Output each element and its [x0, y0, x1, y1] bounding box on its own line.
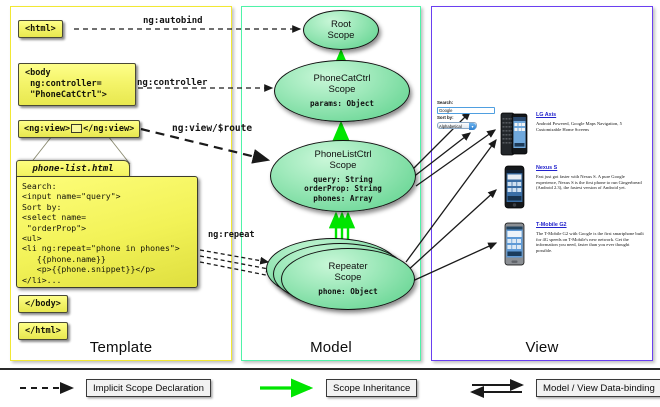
scope-root-title-2: Scope [328, 30, 355, 41]
code-box-ngview: <ng:view></ng:view> [18, 120, 140, 138]
dashed-arrow-icon [18, 378, 80, 398]
partial-line: <ul> [22, 233, 192, 243]
phone-list-item[interactable]: Nexus S Fast just got faster with Nexus … [500, 165, 650, 191]
legend-label-inheritance: Scope Inheritance [326, 379, 417, 397]
partial-line: Sort by: [22, 202, 192, 212]
search-label: Search: [437, 100, 497, 106]
phone-list-item[interactable]: LG Axis Android Powered, Google Maps Nav… [500, 112, 650, 132]
scope-property: phones: Array [304, 194, 382, 203]
legend-item-implicit: Implicit Scope Declaration [18, 378, 211, 398]
phone-thumbnail-icon [500, 222, 528, 266]
partial-line: <li ng:repeat="phone in phones"> [22, 243, 192, 253]
phone-name-link[interactable]: T-Mobile G2 [536, 222, 646, 229]
phone-snippet: Fast just got faster with Nexus S. A pur… [536, 174, 646, 191]
code-box-html-close: </html> [18, 322, 68, 340]
panel-view-label: View [432, 339, 652, 356]
green-arrow-icon [258, 378, 320, 398]
code-box-body-open: <body ng:controller= "PhoneCatCtrl"> [18, 63, 136, 106]
sort-label: Sort by: [437, 115, 497, 121]
partial-line: "orderProp"> [22, 223, 192, 233]
scope-property: query: String [304, 175, 382, 184]
chevron-down-icon: ▾ [469, 123, 476, 130]
sort-select[interactable]: Alphabetical ▾ [437, 122, 477, 129]
connector-label-autobind: ng:autobind [143, 16, 203, 26]
code-box-body-close: </body> [18, 295, 68, 313]
sort-select-value: Alphabetical [439, 124, 462, 129]
partial-line: Search: [22, 181, 192, 191]
view-search-form: Search: Google Sort by: Alphabetical ▾ [437, 100, 497, 129]
legend-item-databinding: Model / View Data-binding [468, 378, 660, 398]
html-close-tag: </html> [25, 326, 61, 336]
phone-list-item[interactable]: T-Mobile G2 The T-Mobile G2 with Google … [500, 222, 650, 253]
legend-label-implicit: Implicit Scope Declaration [86, 379, 211, 397]
scope-phonelistctrl: PhoneListCtrl Scope query: String orderP… [270, 140, 416, 212]
phone-name-link[interactable]: Nexus S [536, 165, 646, 172]
scope-property: params: Object [310, 99, 374, 108]
search-input[interactable]: Google [437, 107, 495, 114]
scope-phonecatctrl-title-2: Scope [313, 84, 370, 95]
partial-line: <input name="query"> [22, 191, 192, 201]
diagram-canvas: Template Model View [0, 0, 660, 405]
double-arrow-icon [468, 378, 530, 398]
scope-repeater-title-1: Repeater [328, 261, 367, 272]
partial-line: </li>... [22, 275, 192, 285]
partial-line: {{phone.name}} [22, 254, 192, 264]
phone-snippet: The T-Mobile G2 with Google is the first… [536, 231, 646, 253]
connector-label-route: ng:view/$route [172, 123, 252, 134]
connector-label-controller: ng:controller [137, 78, 207, 88]
panel-template-label: Template [11, 339, 231, 356]
phone-name-link[interactable]: LG Axis [536, 112, 646, 119]
scope-phonelistctrl-title-1: PhoneListCtrl [314, 149, 371, 160]
panel-model-label: Model [242, 339, 420, 356]
legend: Implicit Scope Declaration Scope Inherit… [0, 368, 660, 407]
scope-root: Root Scope [303, 10, 379, 50]
scope-phonelistctrl-title-2: Scope [314, 160, 371, 171]
ngview-close-tag: </ng:view> [83, 124, 134, 134]
ngview-placeholder-icon [71, 124, 82, 133]
scope-repeater: Repeater Scope phone: Object [281, 248, 415, 310]
code-box-html-open: <html> [18, 20, 63, 38]
partial-line: <select name= [22, 212, 192, 222]
scope-property: phone: Object [318, 287, 377, 296]
partial-line: <p>{{phone.snippet}}</p> [22, 264, 192, 274]
body-close-tag: </body> [25, 299, 61, 309]
body-open-line-1: <body [25, 68, 129, 79]
html-open-tag: <html> [25, 24, 56, 34]
phone-thumbnail-icon [500, 165, 528, 209]
body-open-line-3: "PhoneCatCtrl"> [25, 90, 129, 101]
partial-template-card: phone-list.html Search: <input name="que… [16, 160, 198, 288]
phone-thumbnail-icon [500, 112, 528, 156]
partial-code-body: Search: <input name="query"> Sort by: <s… [16, 176, 198, 288]
scope-root-title-1: Root [328, 19, 355, 30]
body-open-line-2: ng:controller= [25, 79, 129, 90]
scope-phonecatctrl: PhoneCatCtrl Scope params: Object [274, 60, 410, 122]
legend-item-inheritance: Scope Inheritance [258, 378, 417, 398]
ngview-open-tag: <ng:view> [24, 124, 70, 134]
scope-repeater-title-2: Scope [328, 272, 367, 283]
legend-label-databinding: Model / View Data-binding [536, 379, 660, 397]
scope-property: orderProp: String [304, 184, 382, 193]
connector-label-repeat: ng:repeat [208, 230, 255, 240]
phone-snippet: Android Powered, Google Maps Navigation,… [536, 121, 646, 132]
scope-phonecatctrl-title-1: PhoneCatCtrl [313, 73, 370, 84]
